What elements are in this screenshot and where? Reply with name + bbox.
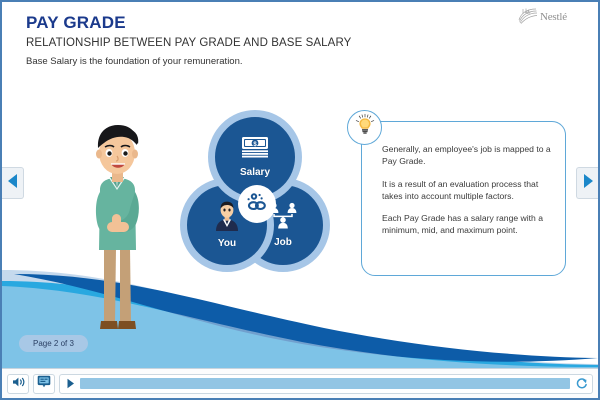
triangle-right-icon	[582, 173, 594, 194]
standing-man-illustration	[74, 118, 160, 340]
page-title: PAY GRADE	[26, 14, 506, 32]
replay-icon[interactable]	[574, 377, 588, 390]
player-control-bar	[2, 368, 598, 398]
info-callout: Generally, an employee's job is mapped t…	[361, 121, 566, 276]
page-indicator-badge: Page 2 of 3	[19, 335, 88, 352]
closed-caption-icon	[37, 375, 51, 393]
lightbulb-icon	[352, 112, 378, 143]
page-subtitle: RELATIONSHIP BETWEEN PAY GRADE AND BASE …	[26, 37, 506, 50]
nav-next-button[interactable]	[576, 167, 598, 199]
volume-button[interactable]	[7, 374, 29, 394]
play-icon[interactable]	[64, 378, 76, 389]
lead-text: Base Salary is the foundation of your re…	[26, 56, 506, 67]
nest-icon	[518, 6, 538, 29]
slide-frame: PAY GRADE RELATIONSHIP BETWEEN PAY GRADE…	[0, 0, 600, 400]
triangle-left-icon	[7, 173, 19, 194]
brand-name: Nestlé	[540, 11, 567, 23]
venn-label-salary: Salary	[240, 167, 270, 178]
seek-bar-group[interactable]	[59, 374, 593, 394]
seek-progress-track[interactable]	[80, 378, 570, 389]
nav-prev-button[interactable]	[2, 167, 24, 199]
captions-button[interactable]	[33, 374, 55, 394]
gear-link-icon	[245, 191, 269, 218]
person-suit-icon	[214, 201, 240, 236]
callout-paragraph-3: Each Pay Grade has a salary range with a…	[382, 213, 551, 237]
callout-paragraph-2: It is a result of an evaluation process …	[382, 179, 551, 203]
slide-header: PAY GRADE RELATIONSHIP BETWEEN PAY GRADE…	[26, 14, 506, 68]
money-stack-icon: $	[240, 136, 270, 165]
venn-center-node[interactable]	[238, 185, 276, 223]
venn-diagram: $ Salary	[180, 110, 330, 280]
volume-icon	[12, 375, 25, 393]
callout-body: Generally, an employee's job is mapped t…	[362, 122, 565, 247]
callout-paragraph-1: Generally, an employee's job is mapped t…	[382, 144, 551, 168]
venn-label-you: You	[218, 238, 236, 249]
venn-label-job: Job	[274, 237, 292, 248]
lightbulb-badge	[347, 110, 382, 145]
slide-stage: PAY GRADE RELATIONSHIP BETWEEN PAY GRADE…	[2, 2, 598, 368]
brand-logo: Nestlé	[518, 6, 590, 28]
